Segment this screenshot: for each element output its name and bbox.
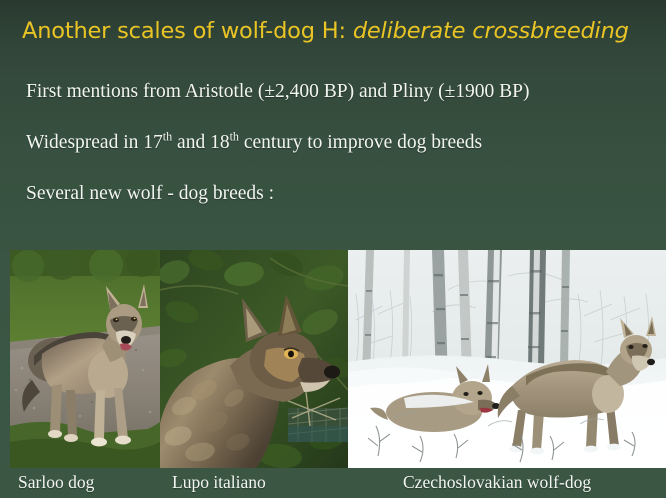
- photo-lupo-italiano: [160, 250, 348, 468]
- body-line-first-mentions-text: First mentions from Aristotle (±2,400 BP…: [26, 81, 530, 102]
- ordinal-suffix-17th: th: [163, 130, 172, 144]
- caption-lupo-italiano: Lupo italiano: [172, 470, 266, 494]
- photo-strip: [10, 250, 666, 468]
- presentation-slide: Another scales of wolf-dog H: deliberate…: [0, 0, 666, 498]
- body-line-widespread-seg2: and 18: [172, 132, 229, 153]
- slide-title-emphasis: deliberate crossbreeding: [353, 18, 629, 44]
- body-line-widespread-seg3: century to improve dog breeds: [239, 132, 482, 153]
- caption-czechoslovakian: Czechoslovakian wolf-dog: [403, 470, 591, 494]
- slide-title: Another scales of wolf-dog H: deliberate…: [22, 17, 654, 45]
- photo-saarloos: [10, 250, 160, 468]
- body-line-first-mentions: First mentions from Aristotle (±2,400 BP…: [26, 80, 646, 104]
- slide-body: First mentions from Aristotle (±2,400 BP…: [26, 80, 646, 233]
- photo-lupo-italiano-image: [160, 250, 348, 468]
- slide-title-main: Another scales of wolf-dog H:: [22, 18, 346, 44]
- body-line-several-breeds-text: Several new wolf - dog breeds :: [26, 183, 274, 204]
- photo-czechoslovakian: [348, 250, 666, 468]
- body-line-several-breeds: Several new wolf - dog breeds :: [26, 182, 646, 206]
- caption-saarloos: Sarloo dog: [18, 470, 94, 494]
- body-line-widespread: Widespread in 17th and 18th century to i…: [26, 131, 646, 155]
- photo-czechoslovakian-image: [348, 250, 666, 468]
- ordinal-suffix-18th: th: [230, 130, 239, 144]
- photo-saarloos-image: [10, 250, 160, 468]
- photo-captions: Sarloo dog Lupo italiano Czechoslovakian…: [0, 470, 666, 498]
- body-line-widespread-seg1: Widespread in 17: [26, 132, 163, 153]
